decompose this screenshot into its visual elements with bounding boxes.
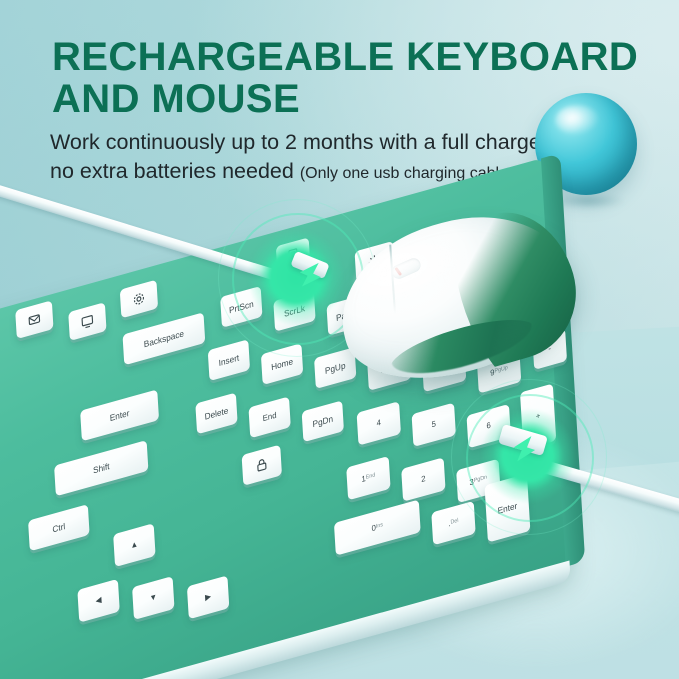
subheading-line-2: no extra batteries needed [50,159,294,183]
key-insert[interactable]: Insert [208,339,250,381]
headline-line-1: RECHARGEABLE KEYBOARD [52,35,638,79]
display-icon [80,313,94,331]
numpad-key-2[interactable]: 2 [401,457,445,501]
arrow-key-right[interactable]: ▶ [187,575,229,619]
lock-icon [255,456,269,474]
key-sublabel: Del [450,519,458,527]
key-label: Enter [109,408,129,423]
lock-icon-key[interactable] [242,445,282,486]
subheading-line-1: Work continuously up to 2 months with a … [50,130,547,154]
key-delete[interactable]: Delete [195,393,237,435]
key-label: End [263,411,277,423]
key-end[interactable]: End [248,396,290,438]
numpad-key-0[interactable]: 0Ins [334,500,421,556]
key-label: Delete [204,406,228,422]
key-label: PgDn [312,414,333,429]
key-label: Insert [218,353,239,368]
numpad-key-5[interactable]: 5 [412,403,456,447]
key-label: PgUp [325,361,346,376]
key-label: ◀ [95,596,101,606]
arrow-key-down[interactable]: ▼ [132,576,174,620]
key-ctrl[interactable]: Ctrl [28,504,90,551]
key-label: ▶ [205,592,211,602]
mail-icon-key[interactable] [15,300,53,339]
key-enter[interactable]: Enter [80,389,159,441]
key-label: ▲ [130,540,138,551]
numpad-key-1[interactable]: 1End [346,456,390,500]
mail-icon [27,311,41,329]
key-shift[interactable]: Shift [54,440,148,496]
key-label: Home [271,357,293,372]
arrow-key-up[interactable]: ▲ [113,523,155,567]
key-label: 2 [421,475,426,485]
key-label: Ctrl [52,521,65,534]
key-pgdn[interactable]: PgDn [302,400,344,442]
arrow-key-left[interactable]: ◀ [77,579,119,623]
product-banner: RECHARGEABLE KEYBOARD AND MOUSE Work con… [0,0,679,679]
key-label: Shift [93,461,110,475]
gear-icon-key[interactable] [120,280,158,319]
key-label: Backspace [144,329,185,349]
gear-icon [132,290,146,308]
key-label: 5 [431,420,436,430]
key-sublabel: Ins [376,523,383,531]
key-label: 4 [376,419,381,429]
display-icon-key[interactable] [68,302,106,341]
key-backspace[interactable]: Backspace [122,312,205,365]
key-label: ▼ [149,593,157,604]
key-sublabel: End [366,473,376,482]
